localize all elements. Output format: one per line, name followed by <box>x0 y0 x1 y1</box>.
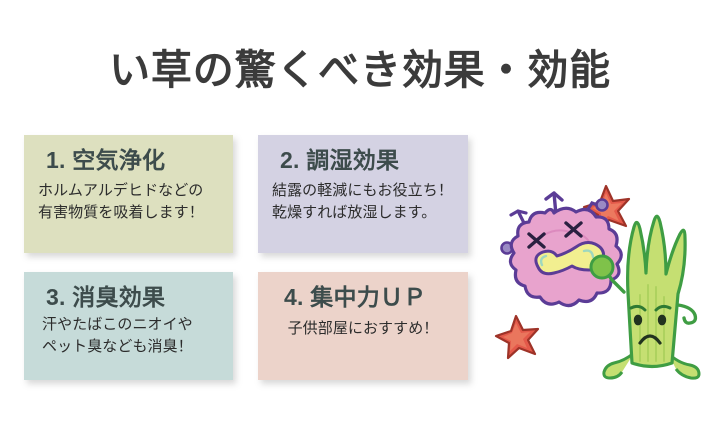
card-body-line: ペット臭なども消臭！ <box>42 336 233 358</box>
card-heading: 3. 消臭効果 <box>24 283 233 311</box>
benefit-card-air-purification: 1. 空気浄化 ホルムアルデヒドなどの 有害物質を吸着します！ <box>24 135 233 253</box>
card-body-line: 結露の軽減にもお役立ち！ <box>272 180 468 202</box>
benefits-card-grid: 1. 空気浄化 ホルムアルデヒドなどの 有害物質を吸着します！ 2. 調湿効果 … <box>24 135 468 385</box>
illustration-germ-vs-grass <box>482 175 714 385</box>
impact-star-bottom <box>496 316 538 358</box>
card-body: 子供部屋におすすめ！ <box>258 318 468 340</box>
page-title: い草の驚くべき効果・効能 <box>0 36 720 96</box>
card-body-line: 有害物質を吸着します！ <box>38 202 233 224</box>
card-body-line: 汗やたばこのニオイや <box>42 314 233 336</box>
card-body: 結露の軽減にもお役立ち！ 乾燥すれば放湿します。 <box>258 180 468 224</box>
card-body: 汗やたばこのニオイや ペット臭なども消臭！ <box>24 314 233 358</box>
card-body-line: ホルムアルデヒドなどの <box>38 180 233 202</box>
benefit-card-humidity-control: 2. 調湿効果 結露の軽減にもお役立ち！ 乾燥すれば放湿します。 <box>258 135 468 253</box>
card-body: ホルムアルデヒドなどの 有害物質を吸着します！ <box>24 180 233 224</box>
germ-character <box>502 193 622 306</box>
card-body-line: 子供部屋におすすめ！ <box>258 318 468 340</box>
benefit-card-deodorizing: 3. 消臭効果 汗やたばこのニオイや ペット臭なども消臭！ <box>24 272 233 380</box>
infographic-root: い草の驚くべき効果・効能 1. 空気浄化 ホルムアルデヒドなどの 有害物質を吸着… <box>0 0 720 429</box>
card-body-line: 乾燥すれば放湿します。 <box>272 202 468 224</box>
card-heading: 1. 空気浄化 <box>24 146 233 174</box>
card-heading: 4. 集中力ＵＰ <box>258 283 468 311</box>
benefit-card-concentration-up: 4. 集中力ＵＰ 子供部屋におすすめ！ <box>258 272 468 380</box>
card-heading: 2. 調湿効果 <box>258 146 468 174</box>
